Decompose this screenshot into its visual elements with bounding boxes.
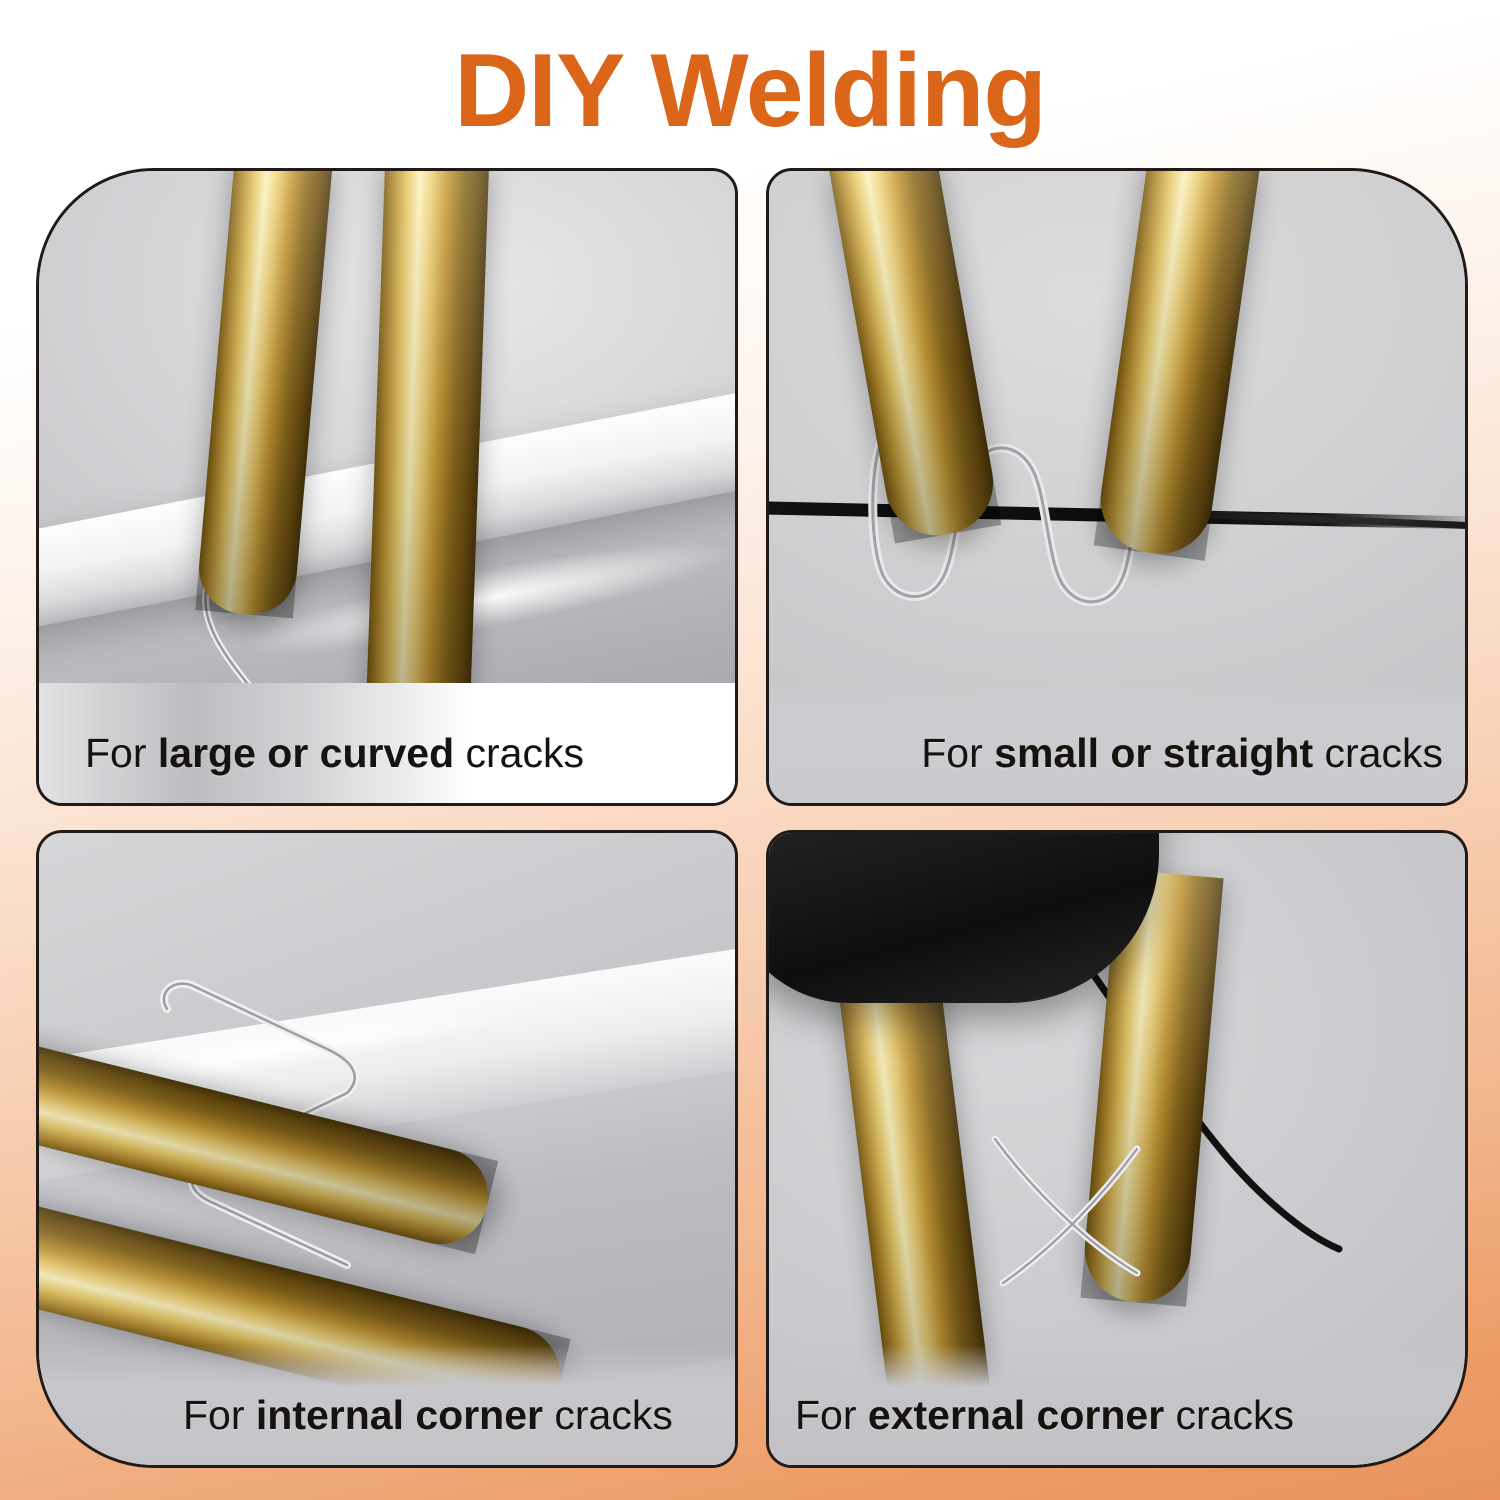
- page-title: DIY Welding: [0, 36, 1500, 146]
- caption-prefix: For: [795, 1392, 868, 1438]
- panel-grid: For large or curved cracks: [36, 168, 1468, 1468]
- photo-large-or-curved: [39, 171, 735, 803]
- panel-caption: For large or curved cracks: [85, 729, 584, 777]
- infographic-page: DIY Welding: [0, 0, 1500, 1500]
- panel-caption: For small or straight cracks: [921, 729, 1443, 777]
- caption-emphasis: large or curved: [158, 730, 454, 776]
- panel-internal-corner[interactable]: For internal corner cracks: [36, 830, 738, 1468]
- electrode-prong-right: [365, 171, 490, 749]
- panel-large-or-curved[interactable]: For large or curved cracks: [36, 168, 738, 806]
- panel-caption: For internal corner cracks: [183, 1391, 673, 1439]
- panel-small-or-straight[interactable]: For small or straight cracks: [766, 168, 1468, 806]
- caption-suffix: cracks: [1164, 1392, 1294, 1438]
- panel-caption: For external corner cracks: [795, 1391, 1294, 1439]
- staple-wire-icon: [987, 1133, 1237, 1333]
- panel-external-corner[interactable]: For external corner cracks: [766, 830, 1468, 1468]
- caption-suffix: cracks: [1313, 730, 1443, 776]
- caption-suffix: cracks: [543, 1392, 673, 1438]
- caption-emphasis: internal corner: [256, 1392, 543, 1438]
- photo-small-or-straight: [769, 171, 1465, 803]
- caption-prefix: For: [183, 1392, 256, 1438]
- caption-suffix: cracks: [454, 730, 584, 776]
- caption-emphasis: external corner: [868, 1392, 1164, 1438]
- caption-emphasis: small or straight: [994, 730, 1313, 776]
- photo-internal-corner: [39, 833, 735, 1465]
- caption-prefix: For: [85, 730, 158, 776]
- caption-prefix: For: [921, 730, 994, 776]
- photo-external-corner: [769, 833, 1465, 1465]
